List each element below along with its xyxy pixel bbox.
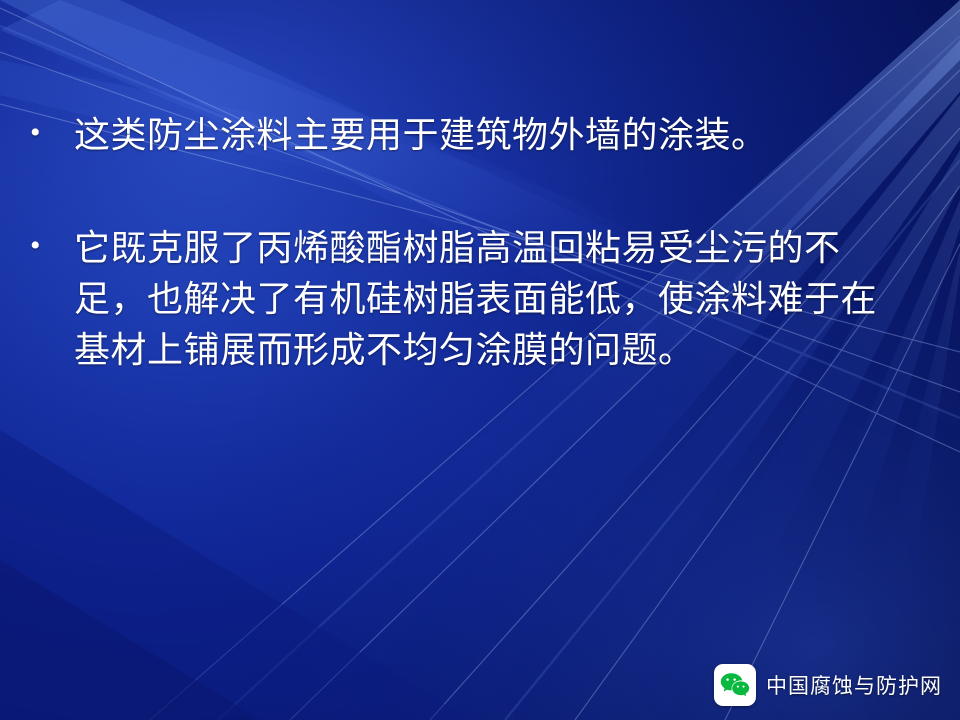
list-item: • 它既克服了丙烯酸酯树脂高温回粘易受尘污的不足，也解决了有机硅树脂表面能低，使…	[30, 223, 930, 376]
wechat-icon	[714, 664, 756, 706]
slide-content: • 这类防尘涂料主要用于建筑物外墙的涂装。 • 它既克服了丙烯酸酯树脂高温回粘易…	[0, 0, 960, 720]
bullet-marker-icon: •	[30, 110, 74, 157]
bullet-marker-icon: •	[30, 223, 74, 270]
bullet-text-2: 它既克服了丙烯酸酯树脂高温回粘易受尘污的不足，也解决了有机硅树脂表面能低，使涂料…	[74, 223, 929, 376]
footer-watermark: 中国腐蚀与防护网	[714, 664, 942, 706]
list-item: • 这类防尘涂料主要用于建筑物外墙的涂装。	[30, 110, 930, 161]
bullet-text-1: 这类防尘涂料主要用于建筑物外墙的涂装。	[74, 110, 930, 161]
bullet-list: • 这类防尘涂料主要用于建筑物外墙的涂装。 • 它既克服了丙烯酸酯树脂高温回粘易…	[30, 110, 930, 376]
footer-label: 中国腐蚀与防护网	[766, 670, 942, 700]
presentation-slide: • 这类防尘涂料主要用于建筑物外墙的涂装。 • 它既克服了丙烯酸酯树脂高温回粘易…	[0, 0, 960, 720]
